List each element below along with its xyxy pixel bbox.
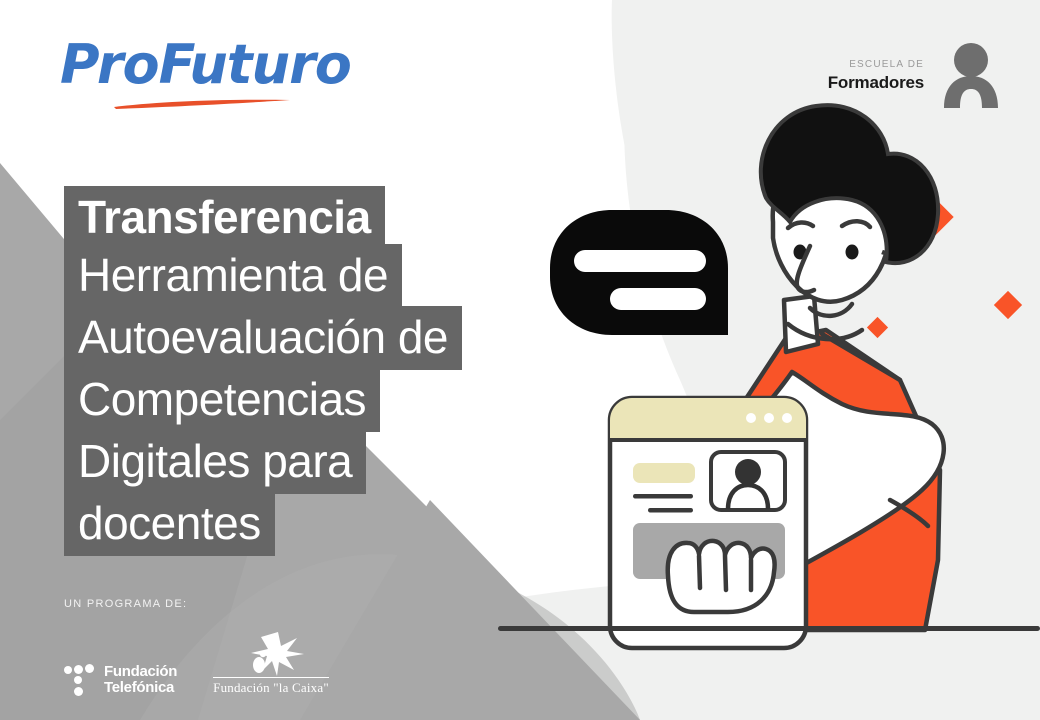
- telefonica-dots-icon: [64, 664, 94, 696]
- profuturo-underline-swoosh: [112, 98, 292, 110]
- card-dot-3: [782, 413, 792, 423]
- illustration-svg: .ln{fill:none;stroke:#3a3a3a;stroke-widt…: [470, 0, 1040, 720]
- page-title: Transferencia Herramienta de Autoevaluac…: [64, 186, 534, 556]
- orange-diamond-small: [994, 291, 1022, 319]
- title-line-5: Digitales para: [64, 430, 366, 494]
- sponsor-logos: Fundación Telefónica Fundación "la Caixa…: [64, 632, 384, 696]
- caixa-star-icon: [237, 632, 305, 676]
- caixa-name: Fundación "la Caixa": [213, 677, 329, 696]
- hero-illustration: .ln{fill:none;stroke:#3a3a3a;stroke-widt…: [470, 0, 1040, 720]
- fundacion-la-caixa-logo: Fundación "la Caixa": [213, 632, 329, 696]
- card-dot-2: [764, 413, 774, 423]
- title-line-2: Herramienta de: [64, 244, 402, 308]
- speech-bubble-icon: [550, 210, 728, 335]
- title-line-6: docentes: [64, 492, 275, 556]
- slide-canvas: ProFuturo ESCUELA DE Formadores Transfer…: [0, 0, 1040, 720]
- card-dot-1: [746, 413, 756, 423]
- telefonica-name-line1: Fundación: [104, 663, 177, 680]
- character-hand: [668, 541, 775, 612]
- title-line-3: Autoevaluación de: [64, 306, 462, 370]
- profuturo-logo: ProFuturo: [60, 36, 320, 114]
- profuturo-wordmark: ProFuturo: [60, 36, 320, 94]
- telefonica-name-line2: Telefónica: [104, 679, 174, 696]
- title-line-4: Competencias: [64, 368, 380, 432]
- program-label: UN PROGRAMA DE:: [64, 598, 384, 610]
- telefonica-name: Fundación Telefónica: [104, 664, 177, 696]
- card-text-line-1: [633, 494, 693, 499]
- fundacion-telefonica-logo: Fundación Telefónica: [64, 664, 177, 696]
- character-eye-right: [846, 245, 859, 260]
- card-avatar-head: [735, 459, 761, 485]
- orange-diamond-tiny: [867, 317, 888, 338]
- card-text-line-2: [648, 508, 693, 513]
- sponsors-footer: UN PROGRAMA DE: Fundación Telefónica: [64, 598, 384, 696]
- desk-line: [498, 626, 1040, 631]
- card-highlight-pill: [633, 463, 695, 483]
- title-line-1: Transferencia: [64, 186, 385, 246]
